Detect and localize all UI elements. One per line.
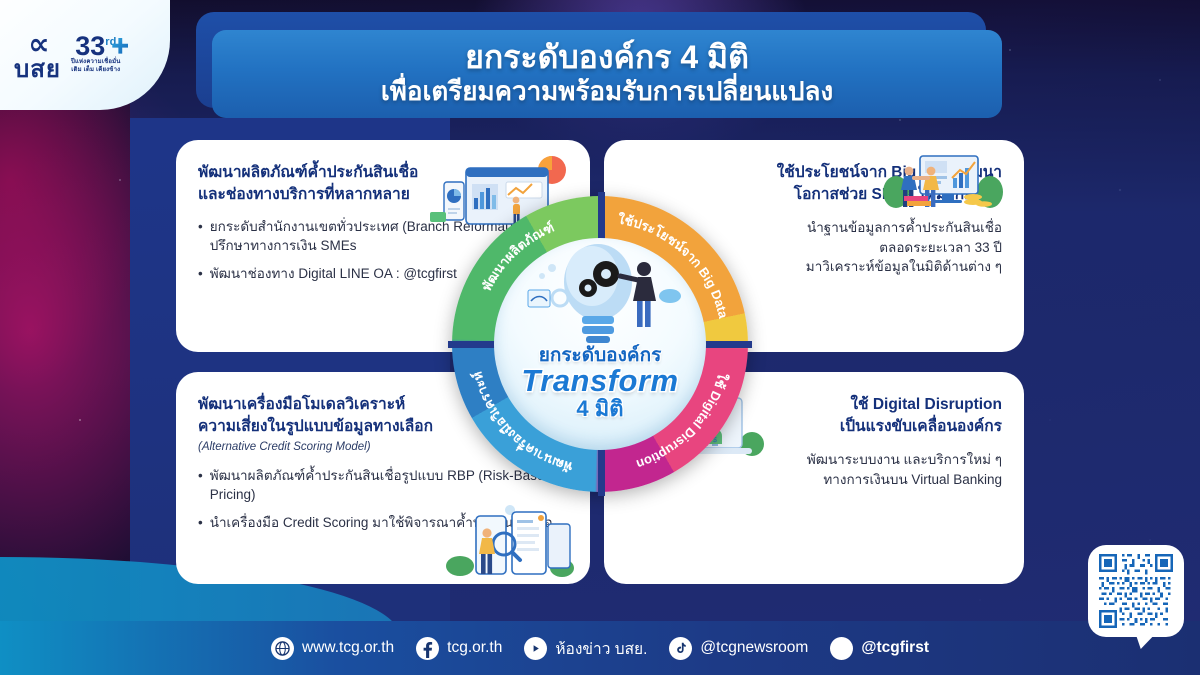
poster-canvas: ∝ บสย 33rd ปีแห่งความเชื่อมั่น เติม เต็ม…: [0, 0, 1200, 675]
social-label: tcg.or.th: [447, 639, 502, 657]
tcg-logo: ∝ บสย: [14, 31, 61, 82]
social-item-tiktok[interactable]: @tcgnewsroom: [669, 637, 808, 660]
center-dimension-label: 4 มิติ: [521, 397, 678, 420]
youtube-icon: [524, 637, 547, 660]
document-search-illustration: [446, 504, 574, 578]
social-item-youtube[interactable]: ห้องข่าว บสย.: [524, 636, 647, 661]
donut-center-content: ยกระดับองค์กร Transform 4 มิติ: [494, 238, 706, 450]
anniversary-number-value: 33: [75, 31, 105, 61]
tiktok-icon: [669, 637, 692, 660]
social-item-line[interactable]: LINE @tcgfirst: [830, 637, 929, 660]
social-item-facebook[interactable]: tcg.or.th: [416, 637, 502, 660]
social-label: @tcgfirst: [861, 639, 929, 657]
svg-text:LINE: LINE: [836, 646, 849, 652]
globe-icon: [271, 637, 294, 660]
donut-center-text: ยกระดับองค์กร Transform 4 มิติ: [521, 346, 678, 420]
bullet-dot-icon: •: [198, 265, 203, 284]
page-title: ยกระดับองค์กร 4 มิติ: [465, 40, 749, 76]
anniversary-number: 33rd: [75, 34, 116, 60]
bullet-dot-icon: •: [198, 467, 203, 504]
social-item-website[interactable]: www.tcg.or.th: [271, 637, 394, 660]
tcg-logo-thai: บสย: [14, 58, 61, 82]
facebook-icon: [416, 637, 439, 660]
transform-donut-diagram: พัฒนาผลิตภัณฑ์ ใช้ประโยชน์จาก Big Data ใ…: [452, 196, 748, 492]
handshake-monitor-illustration: [878, 152, 1006, 214]
anniversary-tagline-line2: เติม เต็ม เคียงข้าง: [71, 67, 121, 75]
center-transform-label: Transform: [521, 365, 678, 397]
line-qr-code: [1099, 554, 1173, 628]
brand-logo-plate: ∝ บสย 33rd ปีแห่งความเชื่อมั่น เติม เต็ม…: [0, 0, 170, 110]
social-label: www.tcg.or.th: [302, 639, 394, 657]
anniversary-tagline: ปีแห่งความเชื่อมั่น เติม เต็ม เคียงข้าง: [71, 59, 121, 74]
bullet-text: พัฒนาช่องทาง Digital LINE OA : @tcgfirst: [210, 265, 457, 284]
lightbulb-gears-illustration: [494, 238, 706, 350]
line-qr-bubble[interactable]: [1088, 545, 1184, 637]
social-footer: www.tcg.or.th tcg.or.th ห้องข่าว บสย. @t…: [0, 621, 1200, 675]
page-subtitle: เพื่อเตรียมความพร้อมรับการเปลี่ยนแปลง: [381, 76, 833, 107]
header-banner: ยกระดับองค์กร 4 มิติ เพื่อเตรียมความพร้อ…: [212, 30, 1002, 118]
bullet-dot-icon: •: [198, 514, 203, 533]
bullet-dot-icon: •: [198, 218, 203, 255]
social-label: @tcgnewsroom: [700, 639, 808, 657]
tcg-logo-glyph: ∝: [28, 31, 46, 58]
line-icon: LINE: [830, 637, 853, 660]
social-label: ห้องข่าว บสย.: [555, 636, 647, 661]
anniversary-badge: 33rd ปีแห่งความเชื่อมั่น เติม เต็ม เคียง…: [71, 34, 121, 75]
